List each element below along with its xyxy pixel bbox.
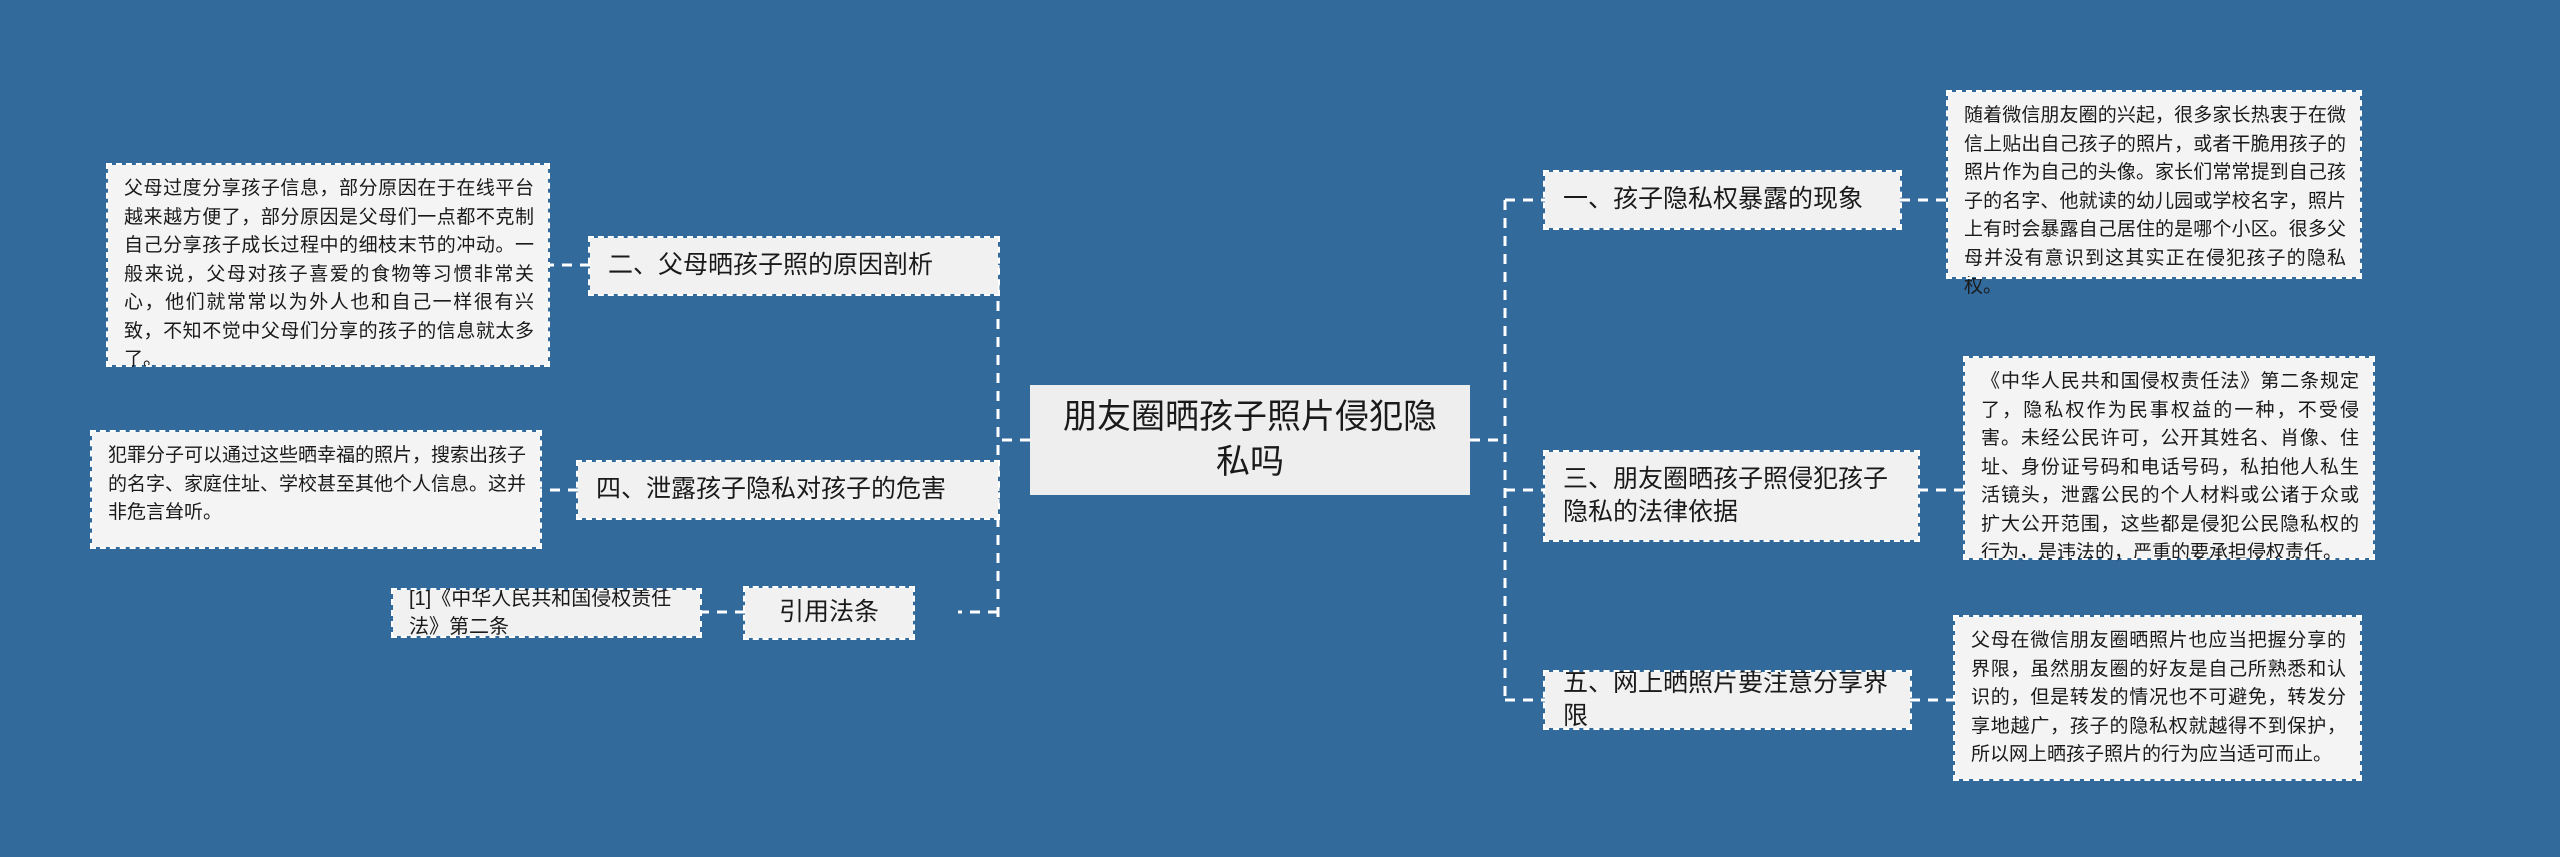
leaf-node-5-text: 父母在微信朋友圈晒照片也应当把握分享的界限，虽然朋友圈的好友是自己所熟悉和认识的… <box>1971 627 2346 770</box>
leaf-node-6-text: [1]《中华人民共和国侵权责任法》第二条 <box>409 585 684 641</box>
leaf-node-4-text: 犯罪分子可以通过这些晒幸福的照片，搜索出孩子的名字、家庭住址、学校甚至其他个人信… <box>108 442 526 528</box>
center-node-title: 朋友圈晒孩子照片侵犯隐私吗 <box>1056 395 1444 485</box>
branch-node-3[interactable]: 三、朋友圈晒孩子照侵犯孩子隐私的法律依据 <box>1545 452 1918 540</box>
leaf-node-1[interactable]: 随着微信朋友圈的兴起，很多家长热衷于在微信上贴出自己孩子的照片，或者干脆用孩子的… <box>1948 92 2360 277</box>
branch-node-5-label: 五、网上晒照片要注意分享界限 <box>1563 667 1892 734</box>
branch-node-5[interactable]: 五、网上晒照片要注意分享界限 <box>1545 672 1910 728</box>
leaf-node-6[interactable]: [1]《中华人民共和国侵权责任法》第二条 <box>393 590 700 636</box>
branch-node-6[interactable]: 引用法条 <box>745 588 913 638</box>
branch-node-2[interactable]: 二、父母晒孩子照的原因剖析 <box>590 238 998 294</box>
leaf-node-2[interactable]: 父母过度分享孩子信息，部分原因在于在线平台越来越方便了，部分原因是父母们一点都不… <box>108 165 548 365</box>
branch-node-4[interactable]: 四、泄露孩子隐私对孩子的危害 <box>578 462 998 518</box>
branch-node-4-label: 四、泄露孩子隐私对孩子的危害 <box>596 473 946 507</box>
branch-node-2-label: 二、父母晒孩子照的原因剖析 <box>608 249 933 283</box>
leaf-node-3-text: 《中华人民共和国侵权责任法》第二条规定了，隐私权作为民事权益的一种，不受侵害。未… <box>1981 368 2359 568</box>
leaf-node-4[interactable]: 犯罪分子可以通过这些晒幸福的照片，搜索出孩子的名字、家庭住址、学校甚至其他个人信… <box>92 432 540 547</box>
leaf-node-5[interactable]: 父母在微信朋友圈晒照片也应当把握分享的界限，虽然朋友圈的好友是自己所熟悉和认识的… <box>1955 617 2360 779</box>
mindmap-canvas: 朋友圈晒孩子照片侵犯隐私吗 一、孩子隐私权暴露的现象 随着微信朋友圈的兴起，很多… <box>0 0 2560 857</box>
branch-node-6-label: 引用法条 <box>779 596 879 630</box>
branch-node-1[interactable]: 一、孩子隐私权暴露的现象 <box>1545 172 1900 228</box>
center-node[interactable]: 朋友圈晒孩子照片侵犯隐私吗 <box>1030 385 1470 495</box>
leaf-node-2-text: 父母过度分享孩子信息，部分原因在于在线平台越来越方便了，部分原因是父母们一点都不… <box>124 175 534 375</box>
leaf-node-3[interactable]: 《中华人民共和国侵权责任法》第二条规定了，隐私权作为民事权益的一种，不受侵害。未… <box>1965 358 2373 558</box>
leaf-node-1-text: 随着微信朋友圈的兴起，很多家长热衷于在微信上贴出自己孩子的照片，或者干脆用孩子的… <box>1964 102 2346 302</box>
branch-node-3-label: 三、朋友圈晒孩子照侵犯孩子隐私的法律依据 <box>1563 463 1900 530</box>
branch-node-1-label: 一、孩子隐私权暴露的现象 <box>1563 183 1863 217</box>
